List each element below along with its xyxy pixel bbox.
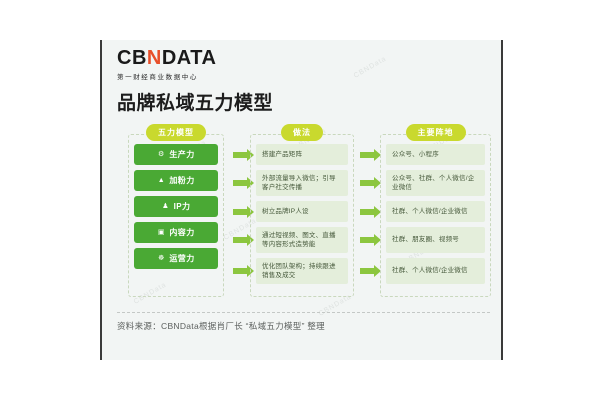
- method-item: 树立品牌IP人设: [256, 201, 348, 222]
- method-item: 通过短视频、图文、直播等内容形式造势能: [256, 227, 348, 253]
- content-icon: ▣: [157, 229, 165, 237]
- model-item[interactable]: ▣ 内容力: [134, 222, 218, 243]
- arrow-group-model-to-method: [229, 144, 251, 284]
- five-forces-diagram: 五力模型 ⚙ 生产力 ▲ 加粉力 ♟ IP力 ▣: [116, 124, 491, 299]
- model-item-label: 生产力: [169, 149, 194, 160]
- brand-logo: CBNDATA 第一财经商业数据中心: [117, 48, 257, 81]
- arrow-slot: [356, 201, 378, 222]
- model-item-label: 运营力: [169, 253, 194, 264]
- arrow-right-icon: [360, 180, 374, 186]
- arrow-right-icon: [360, 237, 374, 243]
- column-model: 五力模型 ⚙ 生产力 ▲ 加粉力 ♟ IP力 ▣: [128, 124, 224, 299]
- arrow-right-icon: [360, 209, 374, 215]
- operation-icon: ☸: [157, 255, 165, 263]
- arrow-slot: [356, 144, 378, 165]
- model-item[interactable]: ♟ IP力: [134, 196, 218, 217]
- model-item[interactable]: ⚙ 生产力: [134, 144, 218, 165]
- arrow-right-icon: [233, 268, 247, 274]
- logo-text-before: CB: [117, 47, 147, 69]
- infographic-card: CBNData CBNData CBNData CBNData CBNData …: [100, 40, 503, 360]
- model-item[interactable]: ☸ 运营力: [134, 248, 218, 269]
- arrow-slot: [229, 144, 251, 165]
- logo-subtitle: 第一财经商业数据中心: [117, 71, 257, 81]
- column-header-position: 主要阵地: [406, 124, 466, 141]
- arrow-slot: [229, 258, 251, 284]
- position-item: 社群、个人微信/企业微信: [386, 258, 485, 284]
- position-item: 公众号、小程序: [386, 144, 485, 165]
- footer-divider: [117, 312, 490, 313]
- production-icon: ⚙: [157, 151, 165, 159]
- logo-accent-letter: N: [147, 47, 162, 69]
- traffic-icon: ▲: [157, 177, 165, 185]
- model-item-label: 加粉力: [169, 175, 194, 186]
- column-method: 做法 搭建产品矩阵 外部流量导入微信；引导客户社交传播 树立品牌IP人设 通过短…: [250, 124, 354, 299]
- method-item: 优化团队架构；持续跟进销售及成交: [256, 258, 348, 284]
- model-item-label: IP力: [174, 201, 191, 212]
- arrow-right-icon: [233, 237, 247, 243]
- arrow-group-method-to-position: [356, 144, 378, 284]
- position-row-list: 公众号、小程序 公众号、社群、个人微信/企业微信 社群、个人微信/企业微信 社群…: [386, 144, 485, 284]
- position-item: 社群、个人微信/企业微信: [386, 201, 485, 222]
- arrow-right-icon: [360, 268, 374, 274]
- persona-icon: ♟: [162, 203, 170, 211]
- screenshot-root: CBNData CBNData CBNData CBNData CBNData …: [0, 0, 600, 400]
- method-item: 外部流量导入微信；引导客户社交传播: [256, 170, 348, 196]
- method-item: 搭建产品矩阵: [256, 144, 348, 165]
- model-row-list: ⚙ 生产力 ▲ 加粉力 ♟ IP力 ▣ 内容力: [134, 144, 218, 269]
- arrow-right-icon: [233, 152, 247, 158]
- logo-wordmark: CBNDATA: [117, 48, 257, 68]
- arrow-slot: [356, 170, 378, 196]
- arrow-right-icon: [233, 180, 247, 186]
- arrow-slot: [229, 170, 251, 196]
- arrow-slot: [356, 227, 378, 253]
- arrow-slot: [229, 201, 251, 222]
- source-note: 资料来源：CBNData根据肖厂长 “私域五力模型” 整理: [117, 320, 325, 332]
- page-title: 品牌私域五力模型: [117, 88, 273, 115]
- position-item: 社群、朋友圈、视频号: [386, 227, 485, 253]
- model-item-label: 内容力: [169, 227, 194, 238]
- column-position: 主要阵地 公众号、小程序 公众号、社群、个人微信/企业微信 社群、个人微信/企业…: [380, 124, 491, 299]
- watermark: CBNData: [353, 55, 388, 79]
- arrow-slot: [229, 227, 251, 253]
- model-item[interactable]: ▲ 加粉力: [134, 170, 218, 191]
- method-row-list: 搭建产品矩阵 外部流量导入微信；引导客户社交传播 树立品牌IP人设 通过短视频、…: [256, 144, 348, 284]
- column-header-method: 做法: [281, 124, 323, 141]
- arrow-right-icon: [360, 152, 374, 158]
- logo-text-after: DATA: [162, 47, 217, 69]
- position-item: 公众号、社群、个人微信/企业微信: [386, 170, 485, 196]
- arrow-slot: [356, 258, 378, 284]
- arrow-right-icon: [233, 209, 247, 215]
- column-header-model: 五力模型: [146, 124, 206, 141]
